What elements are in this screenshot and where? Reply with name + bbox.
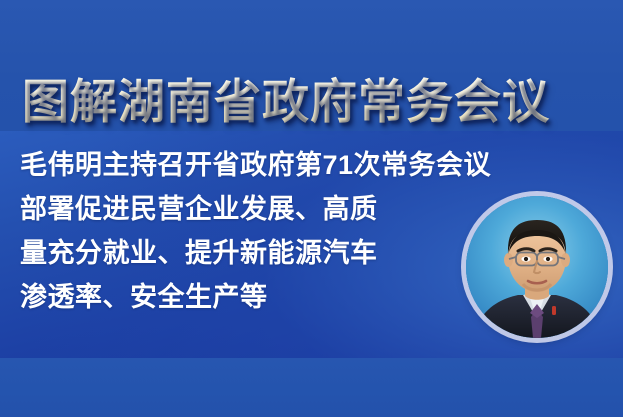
headline-line: 毛伟明主持召开省政府第71次常务会议 <box>20 143 480 187</box>
headline-text-block: 毛伟明主持召开省政府第71次常务会议 部署促进民营企业发展、高质 量充分就业、提… <box>20 143 480 319</box>
person-portrait-icon <box>466 196 608 338</box>
headline-line: 量充分就业、提升新能源汽车 <box>20 231 480 275</box>
official-portrait-avatar <box>466 196 608 338</box>
headline-line: 渗透率、安全生产等 <box>20 275 480 319</box>
headline-line: 部署促进民营企业发展、高质 <box>20 187 480 231</box>
infographic-poster: 图解湖南省政府常务会议 毛伟明主持召开省政府第71次常务会议 部署促进民营企业发… <box>0 0 623 417</box>
bottom-color-band <box>0 358 623 417</box>
page-title: 图解湖南省政府常务会议 <box>22 71 582 135</box>
